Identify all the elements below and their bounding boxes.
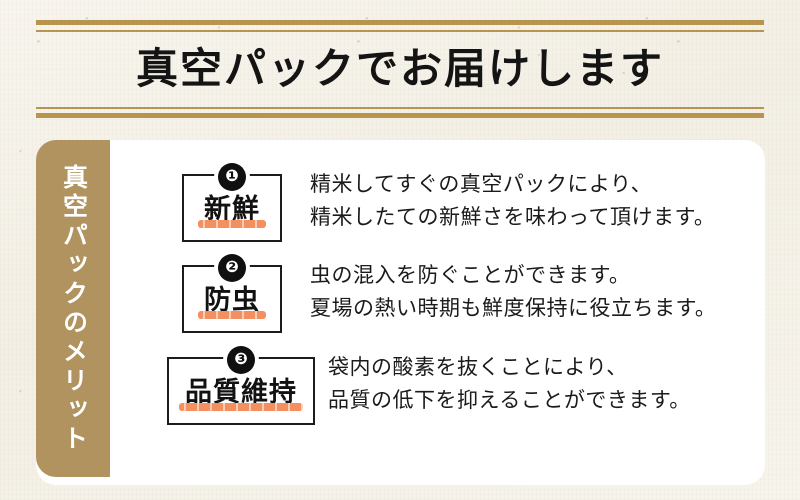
merit-badge-box: ❷ 防虫 (182, 265, 282, 333)
header-banner: 真空パックでお届けします (0, 0, 800, 128)
merit-badge-box: ❶ 新鮮 (182, 174, 282, 242)
merit-number-badge: ❸ (227, 346, 255, 374)
merit-badge-box: ❸ 品質維持 (167, 357, 315, 425)
sidebar-vertical-title: 真空パックのメリット (36, 140, 110, 477)
merit-description-line: 精米したての新鮮さを味わって頂けます。 (310, 201, 715, 234)
brush-underline (179, 403, 303, 411)
merit-description-line: 夏場の熱い時期も鮮度保持に役立ちます。 (310, 292, 716, 325)
merit-description: 精米してすぐの真空パックにより、 精米したての新鮮さを味わって頂けます。 (310, 168, 715, 234)
merit-badge-label: 品質維持 (185, 375, 297, 409)
merit-badge-label: 防虫 (204, 283, 260, 317)
merit-number-badge: ❷ (218, 254, 246, 282)
header-rule-bottom-thick (36, 113, 764, 118)
merit-row: ❶ 新鮮 精米してすぐの真空パックにより、 精米したての新鮮さを味わって頂けます… (110, 164, 765, 256)
header-rule-top-thin (36, 30, 764, 32)
merit-row: ❸ 品質維持 袋内の酸素を抜くことにより、 品質の低下を抑えることができます。 (110, 347, 765, 439)
header-rule-top-thick (36, 20, 764, 25)
merit-description-line: 袋内の酸素を抜くことにより、 (328, 351, 691, 384)
merit-number-badge: ❶ (218, 163, 246, 191)
infographic-page: 真空パックでお届けします 真空パックのメリット ❶ 新鮮 精米してすぐの真空パッ… (0, 0, 800, 500)
merits-card: 真空パックのメリット ❶ 新鮮 精米してすぐの真空パックにより、 精米したての新… (36, 140, 765, 485)
merit-badge-label: 新鮮 (204, 192, 260, 226)
header-rule-bottom-thin (36, 107, 764, 109)
merit-badge-label-wrap: 防虫 (184, 283, 280, 317)
merit-description-line: 品質の低下を抑えることができます。 (328, 384, 691, 417)
merit-badge-label-wrap: 品質維持 (169, 375, 313, 409)
merit-description: 袋内の酸素を抜くことにより、 品質の低下を抑えることができます。 (328, 351, 691, 417)
brush-underline (198, 220, 266, 228)
merit-description: 虫の混入を防ぐことができます。 夏場の熱い時期も鮮度保持に役立ちます。 (310, 259, 716, 325)
sidebar-panel: 真空パックのメリット (36, 140, 110, 477)
merit-list: ❶ 新鮮 精米してすぐの真空パックにより、 精米したての新鮮さを味わって頂けます… (110, 140, 765, 485)
merit-row: ❷ 防虫 虫の混入を防ぐことができます。 夏場の熱い時期も鮮度保持に役立ちます。 (110, 255, 765, 347)
merit-badge-label-wrap: 新鮮 (184, 192, 280, 226)
merit-description-line: 虫の混入を防ぐことができます。 (310, 259, 716, 292)
brush-underline (198, 311, 266, 319)
page-title: 真空パックでお届けします (0, 44, 800, 94)
merit-description-line: 精米してすぐの真空パックにより、 (310, 168, 715, 201)
